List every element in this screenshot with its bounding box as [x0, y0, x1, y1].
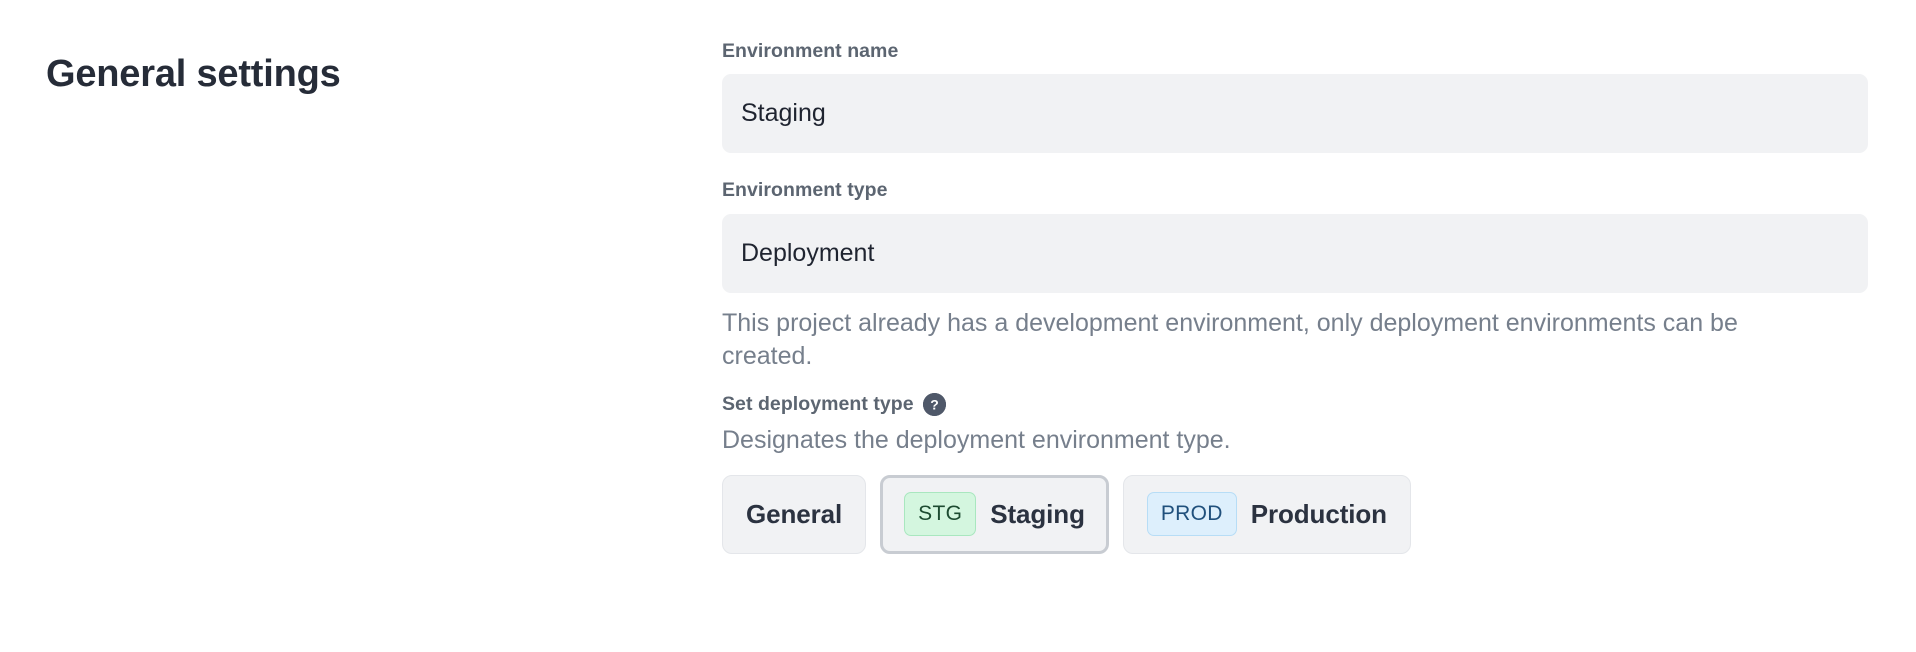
deployment-type-label: Set deployment type: [722, 391, 914, 418]
deployment-type-label-row: Set deployment type ?: [722, 391, 1868, 418]
environment-type-input[interactable]: [722, 214, 1868, 293]
deployment-option-production[interactable]: PROD Production: [1123, 475, 1411, 554]
environment-name-input[interactable]: [722, 74, 1868, 153]
deployment-option-general[interactable]: General: [722, 475, 866, 554]
deployment-option-general-label: General: [746, 499, 842, 530]
field-spacer: [722, 153, 1868, 177]
deployment-option-production-label: Production: [1251, 499, 1387, 530]
environment-name-field-group: Environment name: [722, 38, 1868, 153]
prod-badge: PROD: [1147, 492, 1237, 536]
page-title: General settings: [46, 51, 341, 99]
deployment-type-options: General STG Staging PROD Production: [722, 475, 1868, 554]
environment-type-hint: This project already has a development e…: [722, 307, 1817, 373]
environment-name-label: Environment name: [722, 38, 1868, 65]
deployment-type-description: Designates the deployment environment ty…: [722, 424, 1868, 457]
stg-badge: STG: [904, 492, 976, 536]
environment-type-label: Environment type: [722, 177, 1868, 204]
deployment-option-staging[interactable]: STG Staging: [880, 475, 1109, 554]
deployment-option-staging-label: Staging: [990, 499, 1085, 530]
settings-form: Environment name Environment type This p…: [722, 38, 1868, 554]
help-question-icon[interactable]: ?: [923, 393, 946, 416]
svg-text:?: ?: [930, 396, 939, 412]
general-settings-page: General settings Environment name Enviro…: [0, 0, 1916, 652]
deployment-type-field-group: Set deployment type ? Designates the dep…: [722, 391, 1868, 554]
environment-type-field-group: Environment type This project already ha…: [722, 177, 1868, 372]
